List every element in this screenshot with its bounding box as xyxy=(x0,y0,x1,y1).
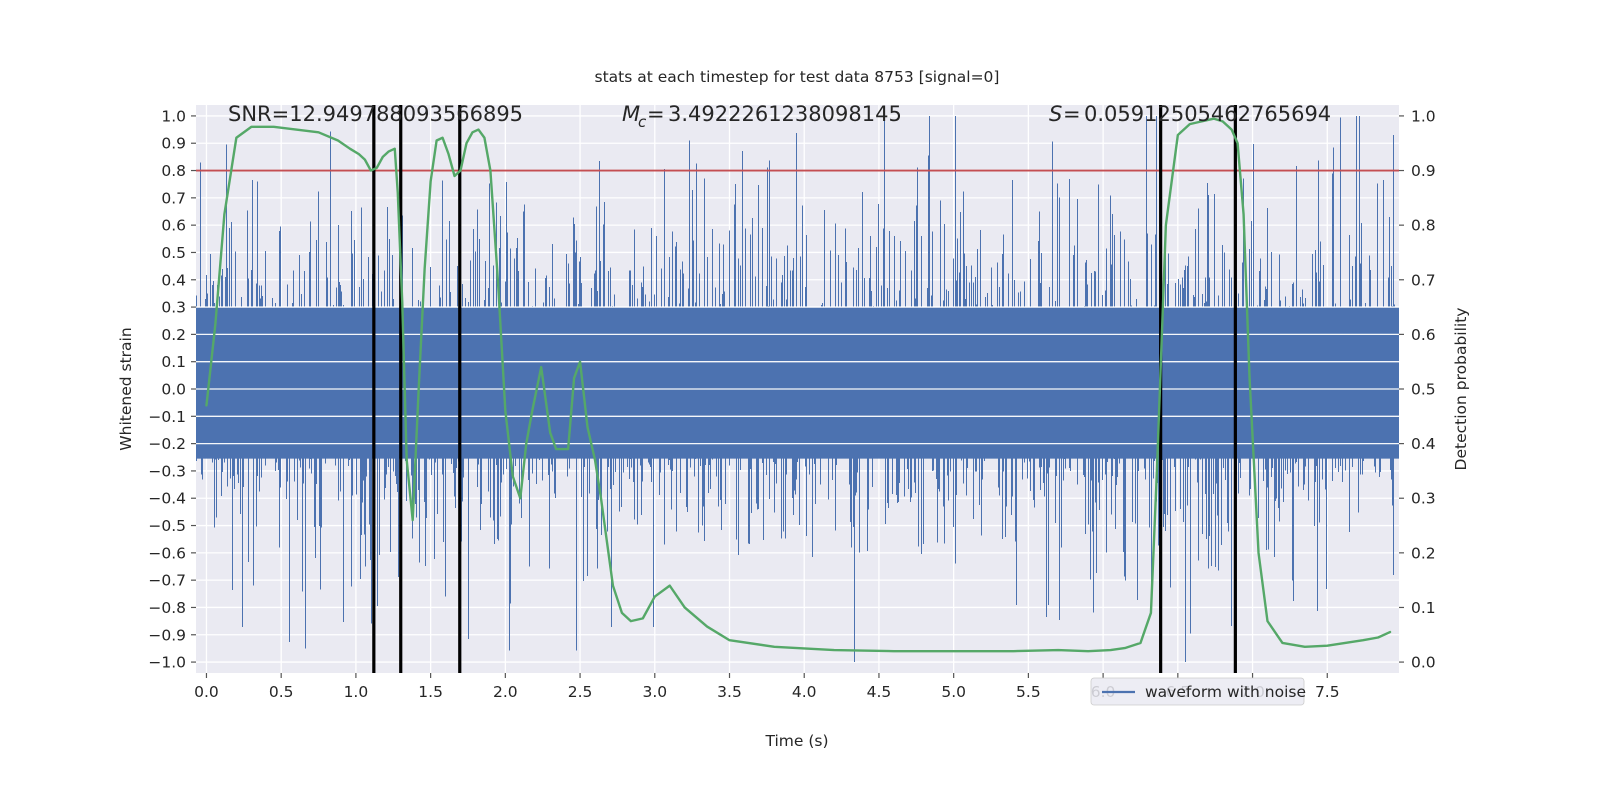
legend[interactable]: waveform with noise xyxy=(1091,678,1306,705)
y-left-tick-label: 1.0 xyxy=(161,107,186,125)
y-left-tick-label: −0.7 xyxy=(148,572,186,590)
y-left-tick-label: −0.3 xyxy=(148,462,186,480)
x-tick-label: 4.5 xyxy=(867,683,892,701)
y-axis-right-label: Detection probability xyxy=(1452,308,1470,471)
y-left-tick-label: 0.2 xyxy=(161,326,186,344)
y-right-tick-label: 0.2 xyxy=(1411,544,1436,562)
y-left-tick-label: 0.6 xyxy=(161,217,186,235)
x-axis-label: Time (s) xyxy=(764,732,828,750)
x-tick-label: 3.0 xyxy=(642,683,667,701)
y-right-tick-label: 0.6 xyxy=(1411,326,1436,344)
y-left-tick-label: −0.6 xyxy=(148,544,186,562)
y-left-tick-label: 0.0 xyxy=(161,381,186,399)
y-right-tick-label: 0.7 xyxy=(1411,271,1436,289)
x-tick-label: 1.5 xyxy=(418,683,443,701)
svg-text:0.05912505462765694: 0.05912505462765694 xyxy=(1084,102,1331,126)
y-left-tick-label: −0.8 xyxy=(148,599,186,617)
y-right-tick-label: 0.4 xyxy=(1411,435,1436,453)
y-axis-left-label: Whitened strain xyxy=(117,327,135,450)
y-right-tick-label: 0.1 xyxy=(1411,599,1436,617)
snr-annotation: SNR=12.949788093566895 xyxy=(228,102,523,126)
plot-svg: 1.00.90.80.70.60.50.40.30.20.10.0−0.1−0.… xyxy=(0,0,1600,800)
y-left-tick-label: 0.4 xyxy=(161,271,186,289)
y-right-tick-label: 0.0 xyxy=(1411,654,1436,672)
y-left-tick-label: −0.4 xyxy=(148,490,186,508)
svg-text:=: = xyxy=(647,102,665,126)
x-tick-label: 1.0 xyxy=(344,683,369,701)
y-left-tick-label: −1.0 xyxy=(148,654,186,672)
y-left-tick-label: −0.9 xyxy=(148,626,186,644)
y-left-tick-label: 0.7 xyxy=(161,189,186,207)
x-tick-label: 0.5 xyxy=(269,683,294,701)
legend-label-waveform: waveform with noise xyxy=(1145,683,1306,701)
svg-text:S: S xyxy=(1049,102,1062,126)
y-right-tick-label: 0.3 xyxy=(1411,490,1436,508)
y-right-tick-label: 1.0 xyxy=(1411,107,1436,125)
significance-annotation: S = 0.05912505462765694 xyxy=(1049,102,1331,126)
x-tick-label: 3.5 xyxy=(717,683,742,701)
x-tick-label: 7.5 xyxy=(1315,683,1340,701)
y-right-tick-label: 0.8 xyxy=(1411,217,1436,235)
y-left-tick-label: 0.5 xyxy=(161,244,186,262)
y-left-tick-label: −0.1 xyxy=(148,408,186,426)
x-tick-label: 2.5 xyxy=(568,683,593,701)
y-left-tick-label: 0.9 xyxy=(161,135,186,153)
x-tick-label: 0.0 xyxy=(194,683,219,701)
figure-canvas: 1.00.90.80.70.60.50.40.30.20.10.0−0.1−0.… xyxy=(0,0,1600,800)
y-left-tick-label: 0.8 xyxy=(161,162,186,180)
y-axis-left-ticks: 1.00.90.80.70.60.50.40.30.20.10.0−0.1−0.… xyxy=(148,107,196,671)
svg-text:3.4922261238098145: 3.4922261238098145 xyxy=(668,102,902,126)
x-tick-label: 4.0 xyxy=(792,683,817,701)
x-tick-label: 5.5 xyxy=(1016,683,1041,701)
y-right-tick-label: 0.9 xyxy=(1411,162,1436,180)
x-tick-label: 5.0 xyxy=(941,683,966,701)
y-left-tick-label: −0.2 xyxy=(148,435,186,453)
x-tick-label: 2.0 xyxy=(493,683,518,701)
y-axis-right-ticks: 1.00.90.80.70.60.50.40.30.20.10.0 xyxy=(1399,107,1436,671)
svg-text:=: = xyxy=(1063,102,1081,126)
y-right-tick-label: 0.5 xyxy=(1411,381,1436,399)
y-left-tick-label: −0.5 xyxy=(148,517,186,535)
y-left-tick-label: 0.1 xyxy=(161,353,186,371)
svg-text:c: c xyxy=(638,113,647,131)
y-left-tick-label: 0.3 xyxy=(161,299,186,317)
chart-title: stats at each timestep for test data 875… xyxy=(595,68,1000,86)
